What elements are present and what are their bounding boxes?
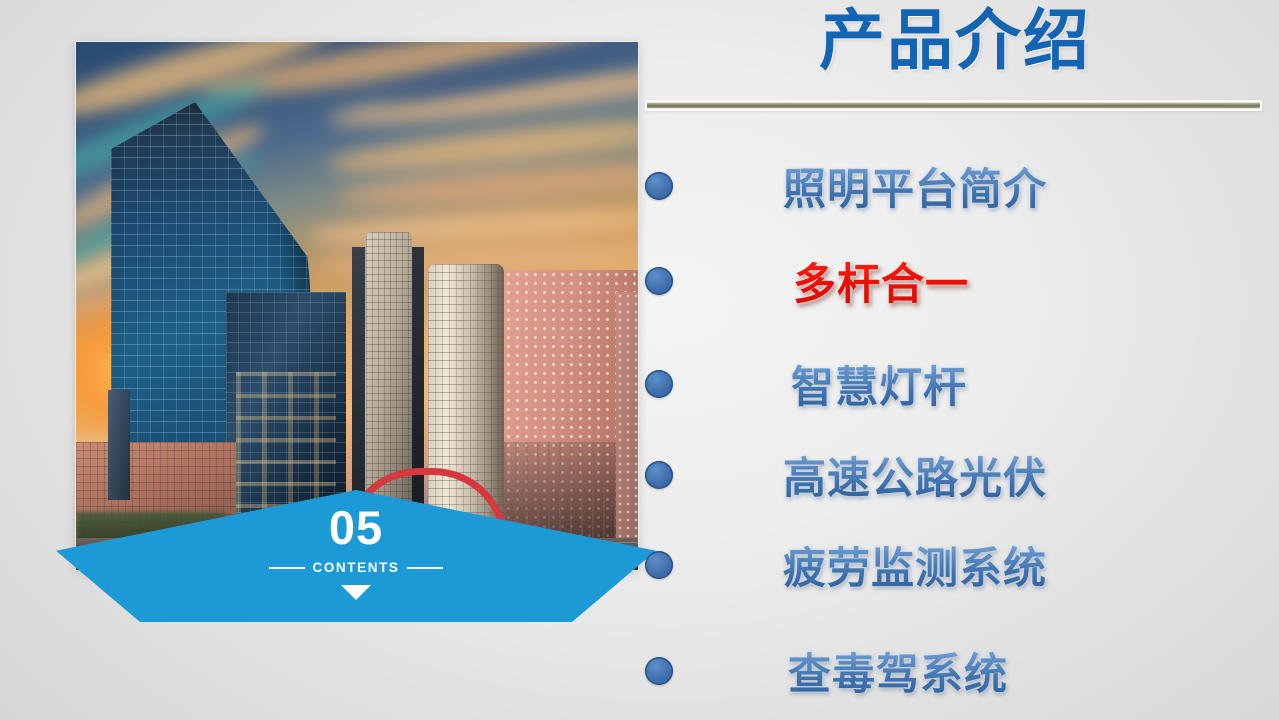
list-item[interactable]: 照明平台简介	[645, 155, 1047, 217]
bullet-dot-icon	[645, 657, 673, 685]
contents-banner: 05 CONTENTS	[56, 490, 656, 622]
caret-down-icon	[341, 585, 371, 600]
list-item-label: 查毒驾系统	[788, 640, 1008, 702]
left-slim-tower	[108, 390, 130, 500]
bullet-dot-icon	[645, 461, 673, 489]
list-item-label: 智慧灯杆	[791, 353, 967, 415]
rule-left	[269, 567, 305, 569]
list-item[interactable]: 多杆合一	[645, 250, 969, 312]
slide-canvas: 05 CONTENTS 产品介绍 照明平台简介 多杆合一 智慧灯杆 高速公路光伏	[0, 0, 1279, 720]
list-item[interactable]: 查毒驾系统	[645, 640, 1008, 702]
contents-label-row: CONTENTS	[269, 560, 442, 575]
bullet-dot-icon	[645, 267, 673, 295]
list-item-label: 多杆合一	[793, 250, 969, 312]
list-item-label: 高速公路光伏	[783, 444, 1047, 506]
list-item-label: 照明平台简介	[783, 155, 1047, 217]
rule-right	[407, 567, 443, 569]
list-item[interactable]: 智慧灯杆	[645, 353, 967, 415]
contents-label: CONTENTS	[312, 560, 399, 575]
page-title: 产品介绍	[645, 4, 1265, 77]
bullet-dot-icon	[645, 370, 673, 398]
bullet-dot-icon	[645, 551, 673, 579]
section-number: 05	[329, 504, 383, 551]
list-item[interactable]: 疲劳监测系统	[645, 534, 1047, 596]
bullet-dot-icon	[645, 172, 673, 200]
divider-inner-bar	[647, 102, 1260, 109]
title-divider	[645, 100, 1262, 111]
list-item[interactable]: 高速公路光伏	[645, 444, 1047, 506]
list-item-label: 疲劳监测系统	[783, 534, 1047, 596]
